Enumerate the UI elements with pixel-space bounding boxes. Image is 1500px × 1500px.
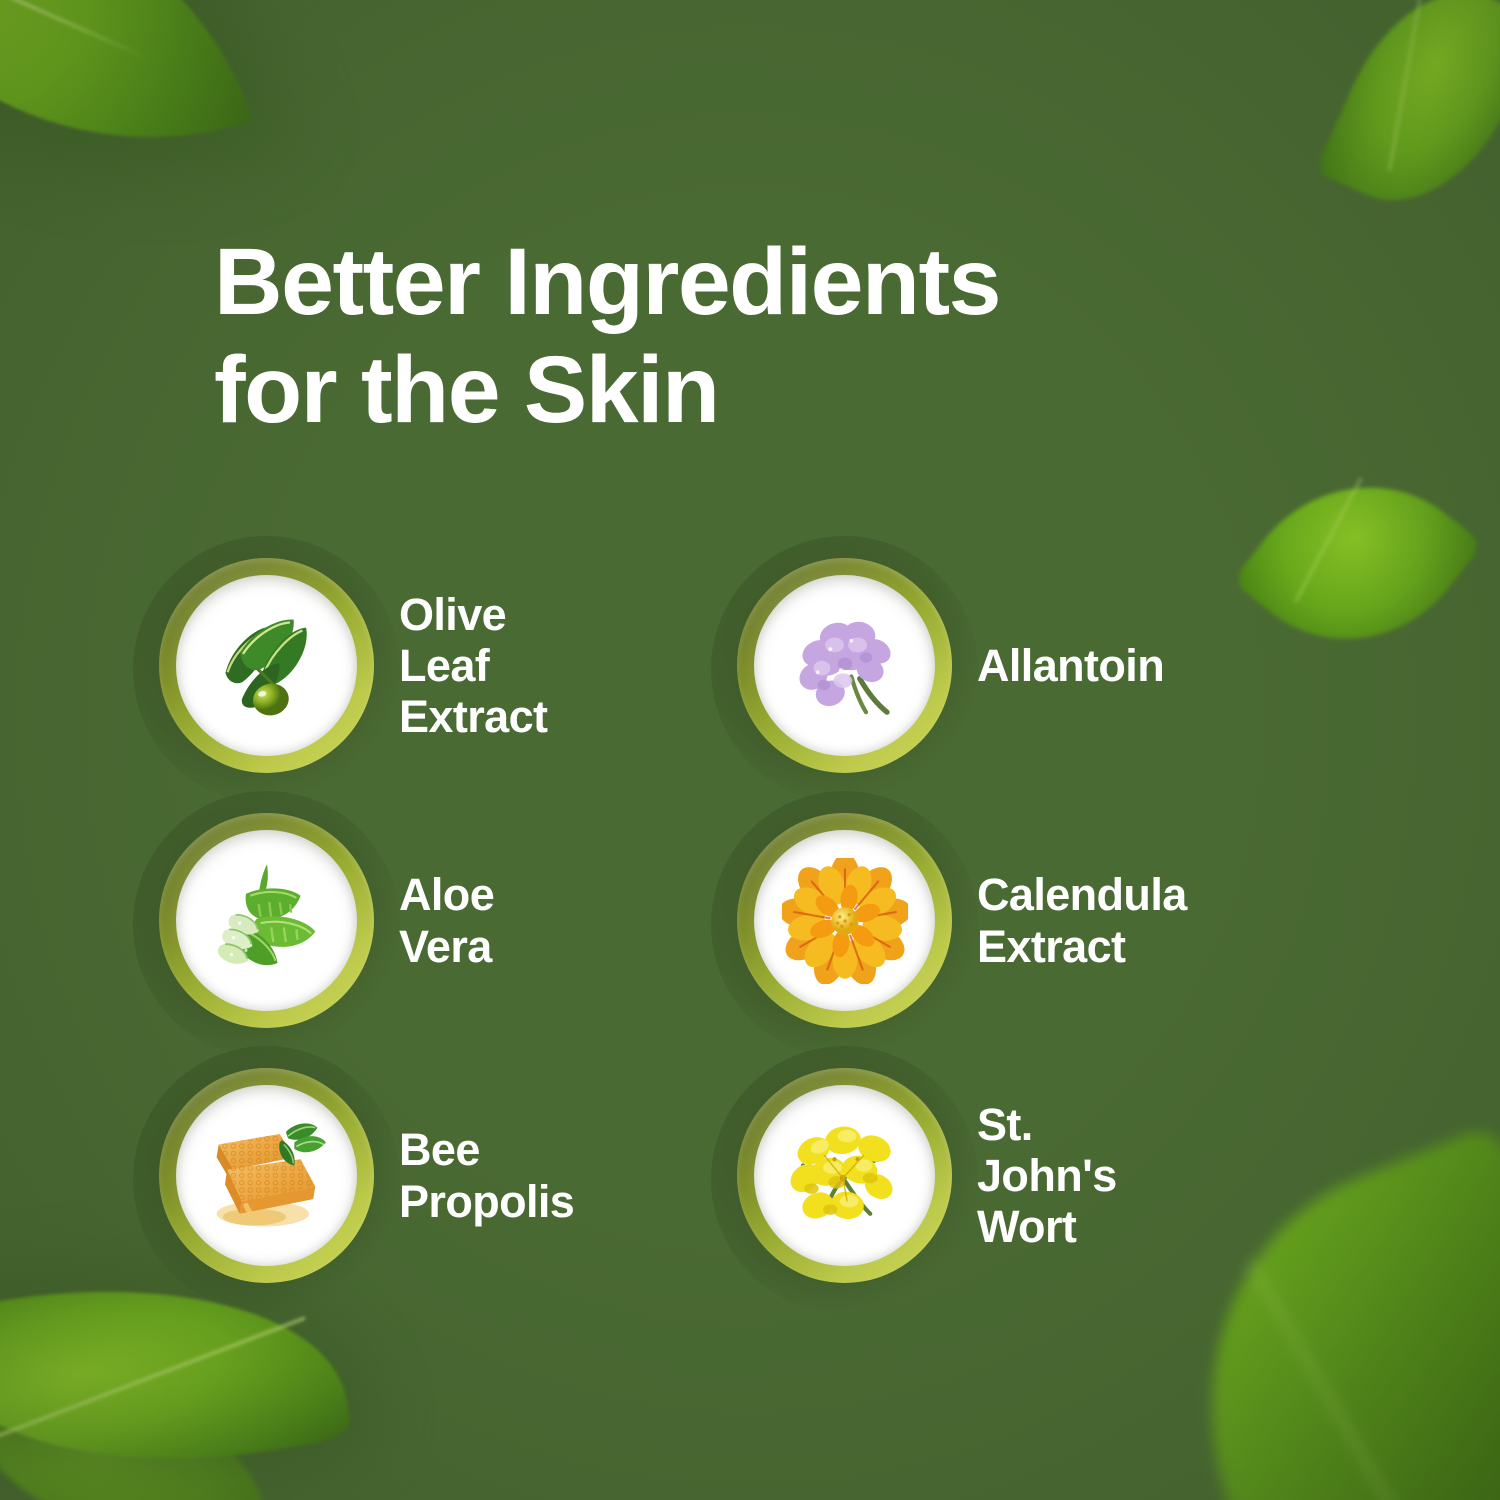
ingredient-item-bee-propolis: Bee Propolis xyxy=(0,1048,578,1303)
ingredient-item-olive-leaf-extract: Olive Leaf Extract xyxy=(0,538,578,793)
badge-disc xyxy=(754,1085,935,1266)
ingredient-badge xyxy=(737,1068,952,1283)
ingredient-badge xyxy=(737,813,952,1028)
ingredient-badge xyxy=(737,558,952,773)
page-title: Better Ingredients for the Skin xyxy=(214,228,1214,445)
ingredient-item-aloe-vera: Aloe Vera xyxy=(0,793,578,1048)
lilac-flower-icon xyxy=(782,603,908,729)
ingredient-item-allantoin: Allantoin xyxy=(578,538,1158,793)
ingredient-label: Allantoin xyxy=(977,640,1164,691)
honeycomb-icon xyxy=(204,1113,330,1239)
badge-disc xyxy=(176,575,357,756)
ingredient-item-st-johns-wort: St. John's Wort xyxy=(578,1048,1158,1303)
ingredient-label: St. John's Wort xyxy=(977,1099,1158,1253)
ingredient-row: Bee Propolis xyxy=(0,1048,1500,1303)
ingredient-badge xyxy=(159,1068,374,1283)
marigold-flower-icon xyxy=(782,858,908,984)
ingredient-label: Calendula Extract xyxy=(977,869,1187,972)
ingredient-item-calendula-extract: Calendula Extract xyxy=(578,793,1158,1048)
ingredient-label: Aloe Vera xyxy=(399,869,578,972)
ingredient-label: Bee Propolis xyxy=(399,1124,574,1227)
olive-branch-icon xyxy=(204,603,330,729)
ingredients-grid: Olive Leaf Extract xyxy=(0,538,1500,1303)
badge-disc xyxy=(754,575,935,756)
badge-disc xyxy=(176,1085,357,1266)
ingredient-label: Olive Leaf Extract xyxy=(399,589,578,743)
content-layer: Better Ingredients for the Skin xyxy=(0,0,1500,1500)
ingredient-row: Olive Leaf Extract xyxy=(0,538,1500,793)
aloe-vera-icon xyxy=(204,858,330,984)
ingredient-badge xyxy=(159,813,374,1028)
ingredient-badge xyxy=(159,558,374,773)
badge-disc xyxy=(176,830,357,1011)
yellow-flower-icon xyxy=(782,1113,908,1239)
ingredient-row: Aloe Vera xyxy=(0,793,1500,1048)
badge-disc xyxy=(754,830,935,1011)
